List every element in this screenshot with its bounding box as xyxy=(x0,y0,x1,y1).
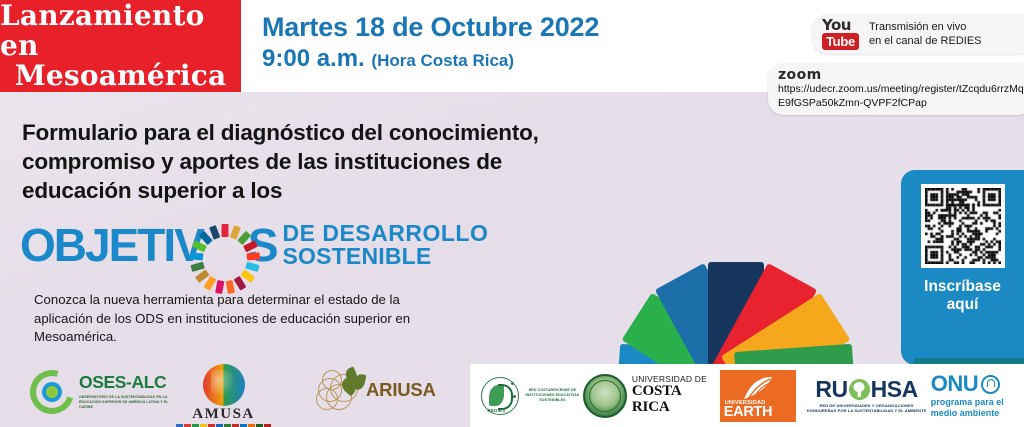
oses-alc-name: OSES-ALC xyxy=(79,374,171,392)
ariusa-icon xyxy=(316,368,364,412)
logo-ariusa: ARIUSA xyxy=(316,368,436,412)
logo-oses-alc: OSES-ALC OBSERVATORIO DE LA SUSTENTABILI… xyxy=(30,370,171,414)
onu-subtitle: programa para el medio ambiente xyxy=(931,397,1004,418)
youtube-line1: Transmisión en vivo xyxy=(869,20,982,34)
youtube-text: Transmisión en vivo en el canal de REDIE… xyxy=(869,20,982,48)
ods-logo-lockup: OBJETIV S DE DESARROLLO SOSTENIBLE xyxy=(20,222,488,268)
ucr-line2: COSTA RICA xyxy=(632,384,711,416)
description-paragraph: Conozca la nueva herramienta para determ… xyxy=(34,291,434,347)
ods-subtitle-line2: SOSTENIBLE xyxy=(283,245,489,268)
amusa-globe-icon xyxy=(203,364,245,406)
registration-panel[interactable]: Inscríbase aquí xyxy=(901,170,1024,365)
earth-line2: EARTH xyxy=(724,405,772,420)
event-timezone: (Hora Costa Rica) xyxy=(371,51,514,70)
onu-wordmark: ONU xyxy=(931,373,1000,395)
ods-word-part1: OBJETIV xyxy=(20,222,203,268)
launch-badge-line1: Lanzamiento en xyxy=(0,1,241,61)
event-time-row: 9:00 a.m. (Hora Costa Rica) xyxy=(262,45,599,74)
ruohsa-tree-icon xyxy=(849,379,870,400)
ods-wordmark: OBJETIV S xyxy=(20,222,277,268)
partner-logos-left: OSES-ALC OBSERVATORIO DE LA SUSTENTABILI… xyxy=(26,362,446,424)
launch-badge-line2: Mesoamérica xyxy=(15,61,227,91)
youtube-line2: en el canal de REDIES xyxy=(869,34,982,48)
ariusa-name: ARIUSA xyxy=(366,381,436,400)
youtube-icon: You Tube xyxy=(822,18,862,51)
onu-subtitle-line2: medio ambiente xyxy=(931,408,1004,418)
sdg-color-wheel-icon xyxy=(204,224,247,267)
zoom-registration-link[interactable]: https://udecr.zoom.us/meeting/register/t… xyxy=(778,83,1024,110)
youtube-icon-tube: Tube xyxy=(822,33,859,50)
registration-label-line1: Inscríbase xyxy=(924,278,1001,296)
registration-label-line2: aquí xyxy=(924,296,1001,314)
event-date: Martes 18 de Octubre 2022 xyxy=(262,12,599,43)
event-datetime: Martes 18 de Octubre 2022 9:00 a.m. (Hor… xyxy=(262,12,599,74)
page-title: Formulario para el diagnóstico del conoc… xyxy=(22,119,567,205)
ods-subtitle-line1: DE DESARROLLO xyxy=(283,222,489,245)
amusa-name: AMUSA xyxy=(192,407,255,422)
zoom-brand-label: zoom xyxy=(778,68,1024,83)
onu-globe-icon xyxy=(981,375,1000,394)
onu-word: ONU xyxy=(931,373,978,395)
ods-subtitle: DE DESARROLLO SOSTENIBLE xyxy=(283,222,489,267)
event-promo-banner: Lanzamiento en Mesoamérica Martes 18 de … xyxy=(0,0,1024,427)
event-time: 9:00 a.m. xyxy=(262,45,365,72)
launch-badge: Lanzamiento en Mesoamérica xyxy=(0,0,241,92)
ucr-seal-icon xyxy=(583,374,627,418)
ruohsa-part2: HSA xyxy=(871,378,918,401)
logo-universidad-costa-rica: UNIVERSIDAD DE COSTA RICA xyxy=(583,364,711,427)
sdg-arc-graphic xyxy=(536,128,936,380)
logo-universidad-earth: UNIVERSIDAD EARTH xyxy=(711,364,804,427)
earth-leaf-icon xyxy=(741,376,775,400)
earth-logo-box: UNIVERSIDAD EARTH xyxy=(720,370,796,422)
ruohsa-subtitle: RED DE UNIVERSIDADES Y ORGANIZACIONES HO… xyxy=(804,403,928,414)
youtube-livestream-pill[interactable]: You Tube Transmisión en vivo en el canal… xyxy=(812,14,1024,54)
oses-alc-subtitle: OBSERVATORIO DE LA SUSTENTABILIDAD EN LA… xyxy=(79,395,171,410)
registration-label: Inscríbase aquí xyxy=(924,278,1001,315)
redies-subtitle: RED COSTARRICENSE DE INSTITUCIONES EDUCA… xyxy=(524,388,580,402)
oses-alc-icon xyxy=(30,370,74,414)
logo-ruohsa: RU HSA RED DE UNIVERSIDADES Y ORGANIZACI… xyxy=(804,364,928,427)
youtube-icon-you: You xyxy=(822,18,862,32)
redies-mark-text: REDIES xyxy=(487,408,505,413)
qr-code[interactable] xyxy=(921,184,1005,268)
logo-amusa: AMUSA xyxy=(176,364,271,427)
redies-icon: REDIES xyxy=(480,376,520,416)
ruohsa-wordmark: RU HSA xyxy=(815,378,917,401)
sponsor-logo-bar: REDIES RED COSTARRICENSE DE INSTITUCIONE… xyxy=(470,364,1024,427)
onu-subtitle-line1: programa para el xyxy=(931,397,1004,407)
logo-onu-medio-ambiente: ONU programa para el medio ambiente xyxy=(929,364,1024,427)
logo-redies: REDIES RED COSTARRICENSE DE INSTITUCIONE… xyxy=(470,364,583,427)
zoom-registration-pill[interactable]: zoom https://udecr.zoom.us/meeting/regis… xyxy=(768,63,1024,115)
ruohsa-part1: RU xyxy=(815,378,847,401)
